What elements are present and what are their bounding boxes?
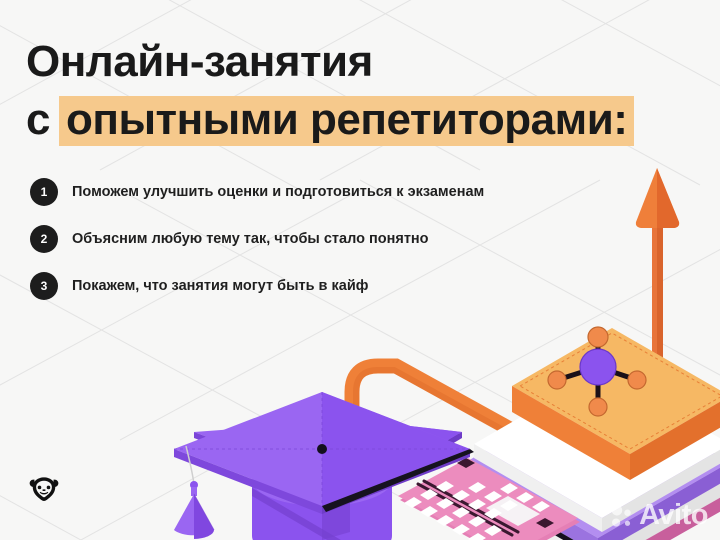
headline-line-2: с опытными репетиторами: [26, 96, 634, 146]
headline-prefix: с [26, 98, 50, 142]
bullet-number-badge: 3 [30, 272, 58, 300]
headline-highlight: опытными репетиторами: [59, 96, 634, 146]
bear-head-logo [26, 470, 62, 506]
benefits-list: 1 Поможем улучшить оценки и подготовитьс… [30, 178, 484, 300]
bullet-text: Объясним любую тему так, чтобы стало пон… [72, 231, 429, 247]
bullet-text: Покажем, что занятия могут быть в кайф [72, 278, 368, 294]
headline-line-1: Онлайн-занятия [26, 40, 634, 84]
list-item: 2 Объясним любую тему так, чтобы стало п… [30, 225, 484, 253]
graduation-cap [174, 392, 474, 540]
list-item: 1 Поможем улучшить оценки и подготовитьс… [30, 178, 484, 206]
list-item: 3 Покажем, что занятия могут быть в кайф [30, 272, 484, 300]
bullet-text: Поможем улучшить оценки и подготовиться … [72, 184, 484, 200]
promo-poster: Онлайн-занятия с опытными репетиторами: … [0, 0, 720, 540]
headline: Онлайн-занятия с опытными репетиторами: [26, 40, 634, 146]
bullet-number-badge: 2 [30, 225, 58, 253]
bullet-number-badge: 1 [30, 178, 58, 206]
